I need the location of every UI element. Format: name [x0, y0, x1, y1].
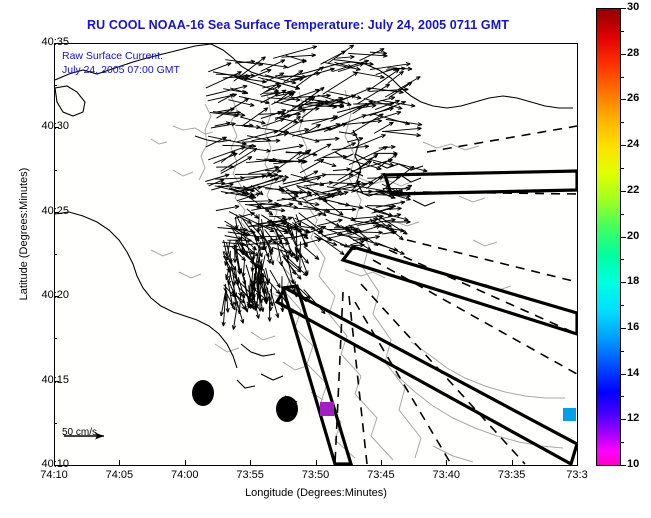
y-axis-label: Latitude (Degrees:Minutes) — [18, 134, 30, 334]
current-vector-arrow — [330, 107, 361, 122]
y-tick-mark — [54, 381, 59, 382]
colorbar-tick-mark — [621, 237, 626, 238]
colorbar-minor-tick — [621, 351, 624, 352]
current-vector-arrow — [287, 60, 306, 68]
colorbar-tick-mark — [621, 145, 626, 146]
buoy-marker-west — [192, 380, 214, 406]
colorbar-tick-mark — [621, 8, 626, 9]
x-tick-mark — [185, 460, 186, 465]
station-marker-purple — [320, 402, 334, 416]
colorbar-tick-label: 26 — [627, 92, 639, 104]
current-vector-arrow — [214, 153, 238, 163]
colorbar-tick-mark — [621, 328, 626, 329]
current-vector-arrow — [205, 174, 229, 181]
x-tick-mark — [381, 460, 382, 465]
map-plot-area: Raw Surface Current: July 24, 2005 07:00… — [54, 43, 578, 466]
current-vector-arrow — [228, 100, 254, 107]
temperature-colorbar — [596, 8, 621, 466]
current-vector-arrow — [377, 243, 404, 254]
current-vector-arrow — [353, 72, 385, 79]
current-vector-arrow — [385, 77, 420, 98]
y-tick-mark — [54, 43, 59, 44]
y-minor-tick — [54, 254, 57, 255]
current-vector-arrow — [226, 290, 229, 312]
current-vector-arrow — [323, 72, 358, 94]
y-minor-tick — [54, 423, 57, 424]
current-vector-arrow — [208, 63, 231, 72]
colorbar-minor-tick — [621, 31, 624, 32]
current-vector-arrow — [266, 152, 301, 178]
colorbar-tick-label: 18 — [627, 275, 639, 287]
x-tick-mark — [512, 460, 513, 465]
current-vector-arrow — [242, 261, 245, 277]
y-tick-mark — [54, 212, 59, 213]
current-vector-arrow — [279, 186, 302, 205]
current-vector-arrow — [382, 131, 420, 137]
current-vector-arrow — [242, 139, 280, 142]
current-vector-arrow — [221, 148, 257, 171]
x-tick-label: 73:55 — [220, 469, 280, 481]
current-vector-arrow — [244, 148, 270, 153]
current-vector-arrow — [350, 215, 384, 219]
current-vector-arrow — [382, 127, 421, 132]
raw-current-annotation: Raw Surface Current: July 24, 2005 07:00… — [62, 49, 180, 77]
x-tick-label: 74:00 — [155, 469, 215, 481]
x-tick-mark — [577, 460, 578, 465]
current-vector-arrow — [316, 160, 336, 167]
colorbar-tick-label: 22 — [627, 184, 639, 196]
station-marker-cyan — [563, 408, 576, 421]
colorbar-tick-mark — [621, 374, 626, 375]
scale-arrow-icon — [62, 430, 112, 442]
x-tick-label: 73:50 — [286, 469, 346, 481]
y-minor-tick — [54, 85, 57, 86]
x-tick-mark — [316, 460, 317, 465]
colorbar-minor-tick — [621, 168, 624, 169]
x-tick-label: 74:05 — [89, 469, 149, 481]
x-tick-mark — [54, 460, 55, 465]
colorbar-tick-mark — [621, 282, 626, 283]
x-axis-label: Longitude (Degrees:Minutes) — [54, 487, 578, 499]
x-tick-label: 73:40 — [416, 469, 476, 481]
sst-map-figure: RU COOL NOAA-16 Sea Surface Temperature:… — [0, 0, 651, 518]
buoy-marker-center — [276, 396, 298, 422]
x-tick-label: 73:3 — [547, 469, 607, 481]
x-tick-label: 73:35 — [482, 469, 542, 481]
map-graphics — [55, 44, 577, 465]
current-vector-arrow — [347, 138, 363, 143]
annotation-line-1: Raw Surface Current: — [62, 49, 180, 63]
y-tick-mark — [54, 465, 59, 466]
y-minor-tick — [54, 338, 57, 339]
current-vector-arrow — [238, 78, 279, 92]
colorbar-minor-tick — [621, 396, 624, 397]
colorbar-tick-mark — [621, 54, 626, 55]
colorbar-tick-label: 16 — [627, 321, 639, 333]
colorbar-minor-tick — [621, 305, 624, 306]
colorbar-tick-mark — [621, 465, 626, 466]
current-vector-arrow — [248, 166, 278, 173]
colorbar-tick-label: 10 — [627, 458, 639, 470]
y-tick-label: 40:30 — [21, 120, 69, 132]
colorbar-tick-mark — [621, 191, 626, 192]
x-tick-label: 73:45 — [351, 469, 411, 481]
figure-title: RU COOL NOAA-16 Sea Surface Temperature:… — [0, 18, 596, 32]
x-tick-mark — [119, 460, 120, 465]
colorbar-minor-tick — [621, 122, 624, 123]
scale-reference: 50 cm/s — [62, 427, 97, 439]
current-vector-arrow — [261, 60, 285, 72]
current-vector-arrow — [317, 137, 339, 140]
colorbar-tick-label: 28 — [627, 47, 639, 59]
current-vector-arrow — [226, 267, 230, 280]
current-vector-arrow — [229, 212, 251, 224]
colorbar-minor-tick — [621, 259, 624, 260]
current-vector-arrow — [314, 143, 355, 161]
colorbar-tick-mark — [621, 419, 626, 420]
y-tick-label: 40:35 — [21, 36, 69, 48]
current-vector-arrow — [206, 85, 247, 96]
colorbar-tick-label: 14 — [627, 367, 639, 379]
colorbar-tick-label: 12 — [627, 412, 639, 424]
colorbar-tick-label: 24 — [627, 138, 639, 150]
current-vector-arrow — [304, 247, 319, 260]
y-minor-tick — [54, 170, 57, 171]
current-vector-arrow — [283, 174, 327, 184]
x-tick-mark — [446, 460, 447, 465]
surface-current-vectors — [205, 45, 427, 330]
current-vector-arrow — [239, 96, 269, 103]
current-vector-arrow — [357, 190, 373, 193]
current-vector-arrow — [295, 208, 319, 211]
current-vector-arrow — [225, 236, 243, 240]
current-vector-arrow — [337, 55, 355, 58]
colorbar-tick-mark — [621, 99, 626, 100]
x-tick-mark — [250, 460, 251, 465]
y-tick-label: 40:15 — [21, 374, 69, 386]
x-tick-label: 74:10 — [24, 469, 84, 481]
colorbar-minor-tick — [621, 214, 624, 215]
current-vector-arrow — [272, 145, 304, 151]
current-vector-arrow — [266, 268, 270, 283]
y-tick-mark — [54, 127, 59, 128]
current-vector-arrow — [216, 205, 239, 210]
y-tick-mark — [54, 296, 59, 297]
current-vector-arrow — [367, 176, 400, 179]
current-vector-arrow — [333, 168, 351, 171]
colorbar-minor-tick — [621, 77, 624, 78]
colorbar-tick-label: 30 — [627, 1, 639, 13]
colorbar-tick-label: 20 — [627, 230, 639, 242]
colorbar-minor-tick — [621, 442, 624, 443]
current-vector-arrow — [216, 108, 234, 112]
annotation-line-2: July 24, 2005 07:00 GMT — [62, 63, 180, 77]
current-vector-arrow — [262, 119, 284, 127]
